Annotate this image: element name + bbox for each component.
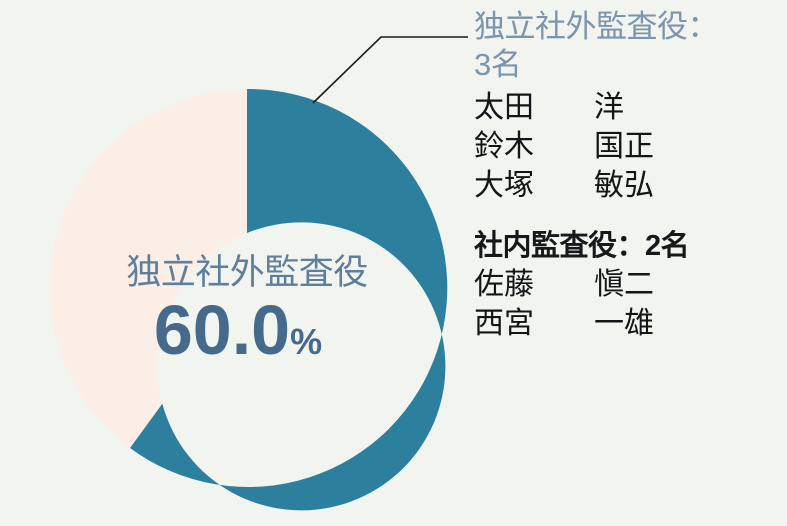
list-item: 鈴木 国正 [474,127,787,166]
legend-group-independent-auditors: 独立社外監査役： 3名 太田 洋 鈴木 国正 大塚 敏弘 [474,8,787,205]
chart-page: 独立社外監査役 60.0% 独立社外監査役： 3名 太田 洋 鈴木 国正 大塚 … [0,0,787,526]
donut-center-value: 60.0% [154,291,322,369]
list-item: 大塚 敏弘 [474,166,787,205]
list-item: 佐藤 愼二 [474,265,787,304]
donut-chart-svg: 独立社外監査役 60.0% [0,0,500,526]
donut-center-label: 独立社外監査役 [126,253,368,292]
donut-chart: 独立社外監査役 60.0% [0,0,500,526]
legend-heading-internal-auditors: 社内監査役：2名 [474,229,787,264]
donut-center-number: 60.0 [154,291,290,369]
name-list-internal-auditors: 佐藤 愼二 西宮 一雄 [474,265,787,343]
list-item: 太田 洋 [474,88,787,127]
leader-line [313,37,468,103]
legend-group-internal-auditors: 社内監査役：2名 佐藤 愼二 西宮 一雄 [474,229,787,343]
donut-center-percent-sign: % [290,321,322,362]
list-item: 西宮 一雄 [474,304,787,343]
legend-panel: 独立社外監査役： 3名 太田 洋 鈴木 国正 大塚 敏弘 社内監査役：2名 佐藤… [474,8,787,343]
name-list-independent-auditors: 太田 洋 鈴木 国正 大塚 敏弘 [474,88,787,205]
legend-heading-independent-auditors: 独立社外監査役： 3名 [474,8,787,85]
